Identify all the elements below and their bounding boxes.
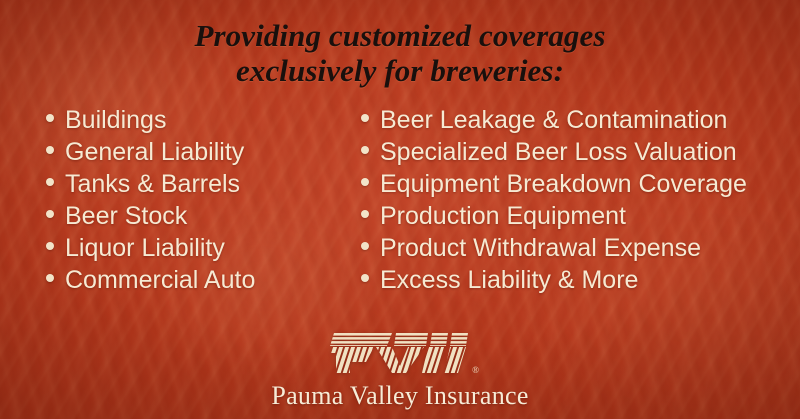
headline: Providing customized coverages exclusive… bbox=[0, 18, 800, 88]
bullet-icon bbox=[361, 242, 369, 250]
list-item-label: Buildings bbox=[65, 104, 166, 136]
list-item: Production Equipment bbox=[361, 200, 800, 232]
list-item-label: Tanks & Barrels bbox=[65, 168, 240, 200]
list-item-label: Beer Stock bbox=[65, 200, 187, 232]
bullet-icon bbox=[361, 210, 369, 218]
bullet-icon bbox=[46, 274, 54, 282]
coverage-list-left: Buildings General Liability Tanks & Barr… bbox=[0, 104, 345, 296]
list-item: Beer Leakage & Contamination bbox=[361, 104, 800, 136]
registered-trademark-icon: ® bbox=[472, 366, 479, 375]
list-item: Tanks & Barrels bbox=[46, 168, 345, 200]
list-item: Liquor Liability bbox=[46, 232, 345, 264]
list-item: Product Withdrawal Expense bbox=[361, 232, 800, 264]
list-item: Commercial Auto bbox=[46, 264, 345, 296]
list-item-label: General Liability bbox=[65, 136, 244, 168]
banner-content: Providing customized coverages exclusive… bbox=[0, 0, 800, 419]
bullet-icon bbox=[361, 114, 369, 122]
bullet-icon bbox=[46, 146, 54, 154]
coverage-list-right: Beer Leakage & Contamination Specialized… bbox=[345, 104, 800, 296]
pvi-monogram-icon bbox=[330, 332, 470, 374]
bullet-icon bbox=[46, 114, 54, 122]
bullet-icon bbox=[46, 242, 54, 250]
logo-lockup: ® Pauma Valley Insurance bbox=[0, 332, 800, 411]
bullet-icon bbox=[361, 274, 369, 282]
list-item-label: Specialized Beer Loss Valuation bbox=[380, 136, 737, 168]
list-item-label: Production Equipment bbox=[380, 200, 626, 232]
brewery-coverage-banner: Providing customized coverages exclusive… bbox=[0, 0, 800, 419]
list-item: Beer Stock bbox=[46, 200, 345, 232]
bullet-icon bbox=[361, 178, 369, 186]
headline-line-2: exclusively for breweries: bbox=[0, 53, 800, 88]
list-item-label: Liquor Liability bbox=[65, 232, 225, 264]
pvi-logo-mark: ® bbox=[330, 332, 470, 374]
bullet-icon bbox=[46, 178, 54, 186]
list-item-label: Beer Leakage & Contamination bbox=[380, 104, 727, 136]
list-item-label: Excess Liability & More bbox=[380, 264, 638, 296]
list-item-label: Product Withdrawal Expense bbox=[380, 232, 701, 264]
list-item: Equipment Breakdown Coverage bbox=[361, 168, 800, 200]
bullet-icon bbox=[361, 146, 369, 154]
coverage-lists: Buildings General Liability Tanks & Barr… bbox=[0, 104, 800, 296]
company-name: Pauma Valley Insurance bbox=[271, 381, 528, 411]
list-item: General Liability bbox=[46, 136, 345, 168]
headline-line-1: Providing customized coverages bbox=[194, 18, 605, 53]
list-item-label: Equipment Breakdown Coverage bbox=[380, 168, 747, 200]
list-item: Specialized Beer Loss Valuation bbox=[361, 136, 800, 168]
list-item: Excess Liability & More bbox=[361, 264, 800, 296]
list-item-label: Commercial Auto bbox=[65, 264, 255, 296]
bullet-icon bbox=[46, 210, 54, 218]
list-item: Buildings bbox=[46, 104, 345, 136]
